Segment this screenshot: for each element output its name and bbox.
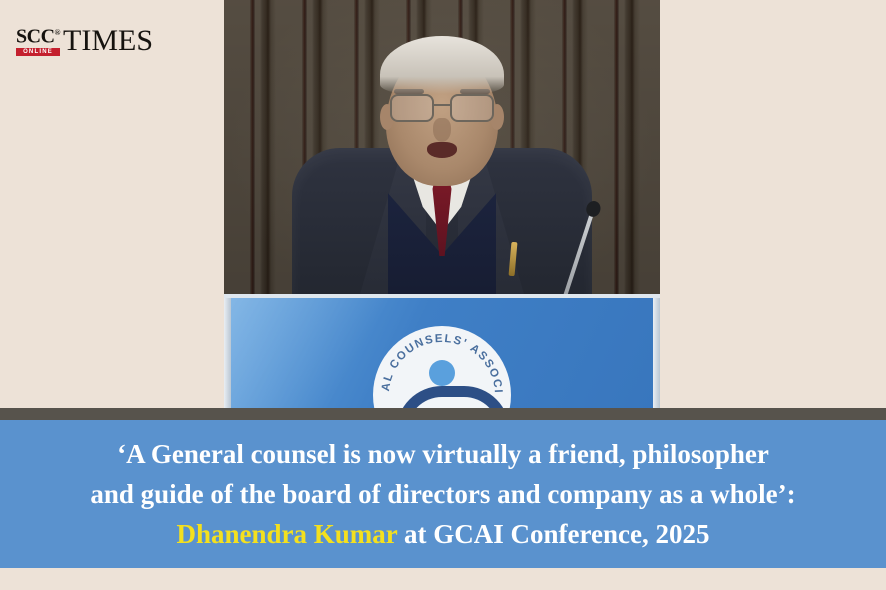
podium-edge-left: [224, 298, 231, 420]
mouth: [427, 142, 457, 158]
times-wordmark: TIMES: [63, 26, 153, 56]
podium-edge-right: [653, 298, 660, 420]
glasses-bridge: [432, 104, 452, 106]
scc-text: SCC: [16, 26, 55, 48]
lens-left: [390, 94, 434, 122]
caption-event: at GCAI Conference, 2025: [397, 519, 709, 549]
nose: [433, 118, 451, 142]
speaker-name: Dhanendra Kumar: [177, 519, 398, 549]
article-banner: SCC® ONLINE TIMES: [0, 0, 886, 590]
emblem-head-dot: [429, 360, 455, 386]
speaker-photo: AL COUNSELS' ASSOCIATION OF: [224, 0, 660, 420]
divider-strip: [0, 408, 886, 420]
footer-strip: [0, 568, 886, 590]
caption-bar: ‘A General counsel is now virtually a fr…: [0, 420, 886, 568]
podium: AL COUNSELS' ASSOCIATION OF: [224, 294, 660, 420]
registered-mark-icon: ®: [55, 28, 60, 37]
caption-line-1: ‘A General counsel is now virtually a fr…: [117, 434, 769, 474]
scc-online-logo-block: SCC® ONLINE: [16, 23, 60, 56]
podium-light-reflection: [224, 298, 394, 420]
eyeglasses-icon: [390, 94, 494, 120]
scc-wordmark: SCC®: [16, 23, 60, 47]
lens-right: [450, 94, 494, 122]
scc-times-logo[interactable]: SCC® ONLINE TIMES: [16, 22, 153, 56]
online-badge: ONLINE: [16, 48, 60, 56]
caption-line-3: Dhanendra Kumar at GCAI Conference, 2025: [177, 514, 710, 554]
caption-line-2: and guide of the board of directors and …: [90, 474, 795, 514]
gcai-emblem-icon: AL COUNSELS' ASSOCIATION OF: [373, 326, 511, 420]
speaker-figure: [282, 58, 602, 308]
